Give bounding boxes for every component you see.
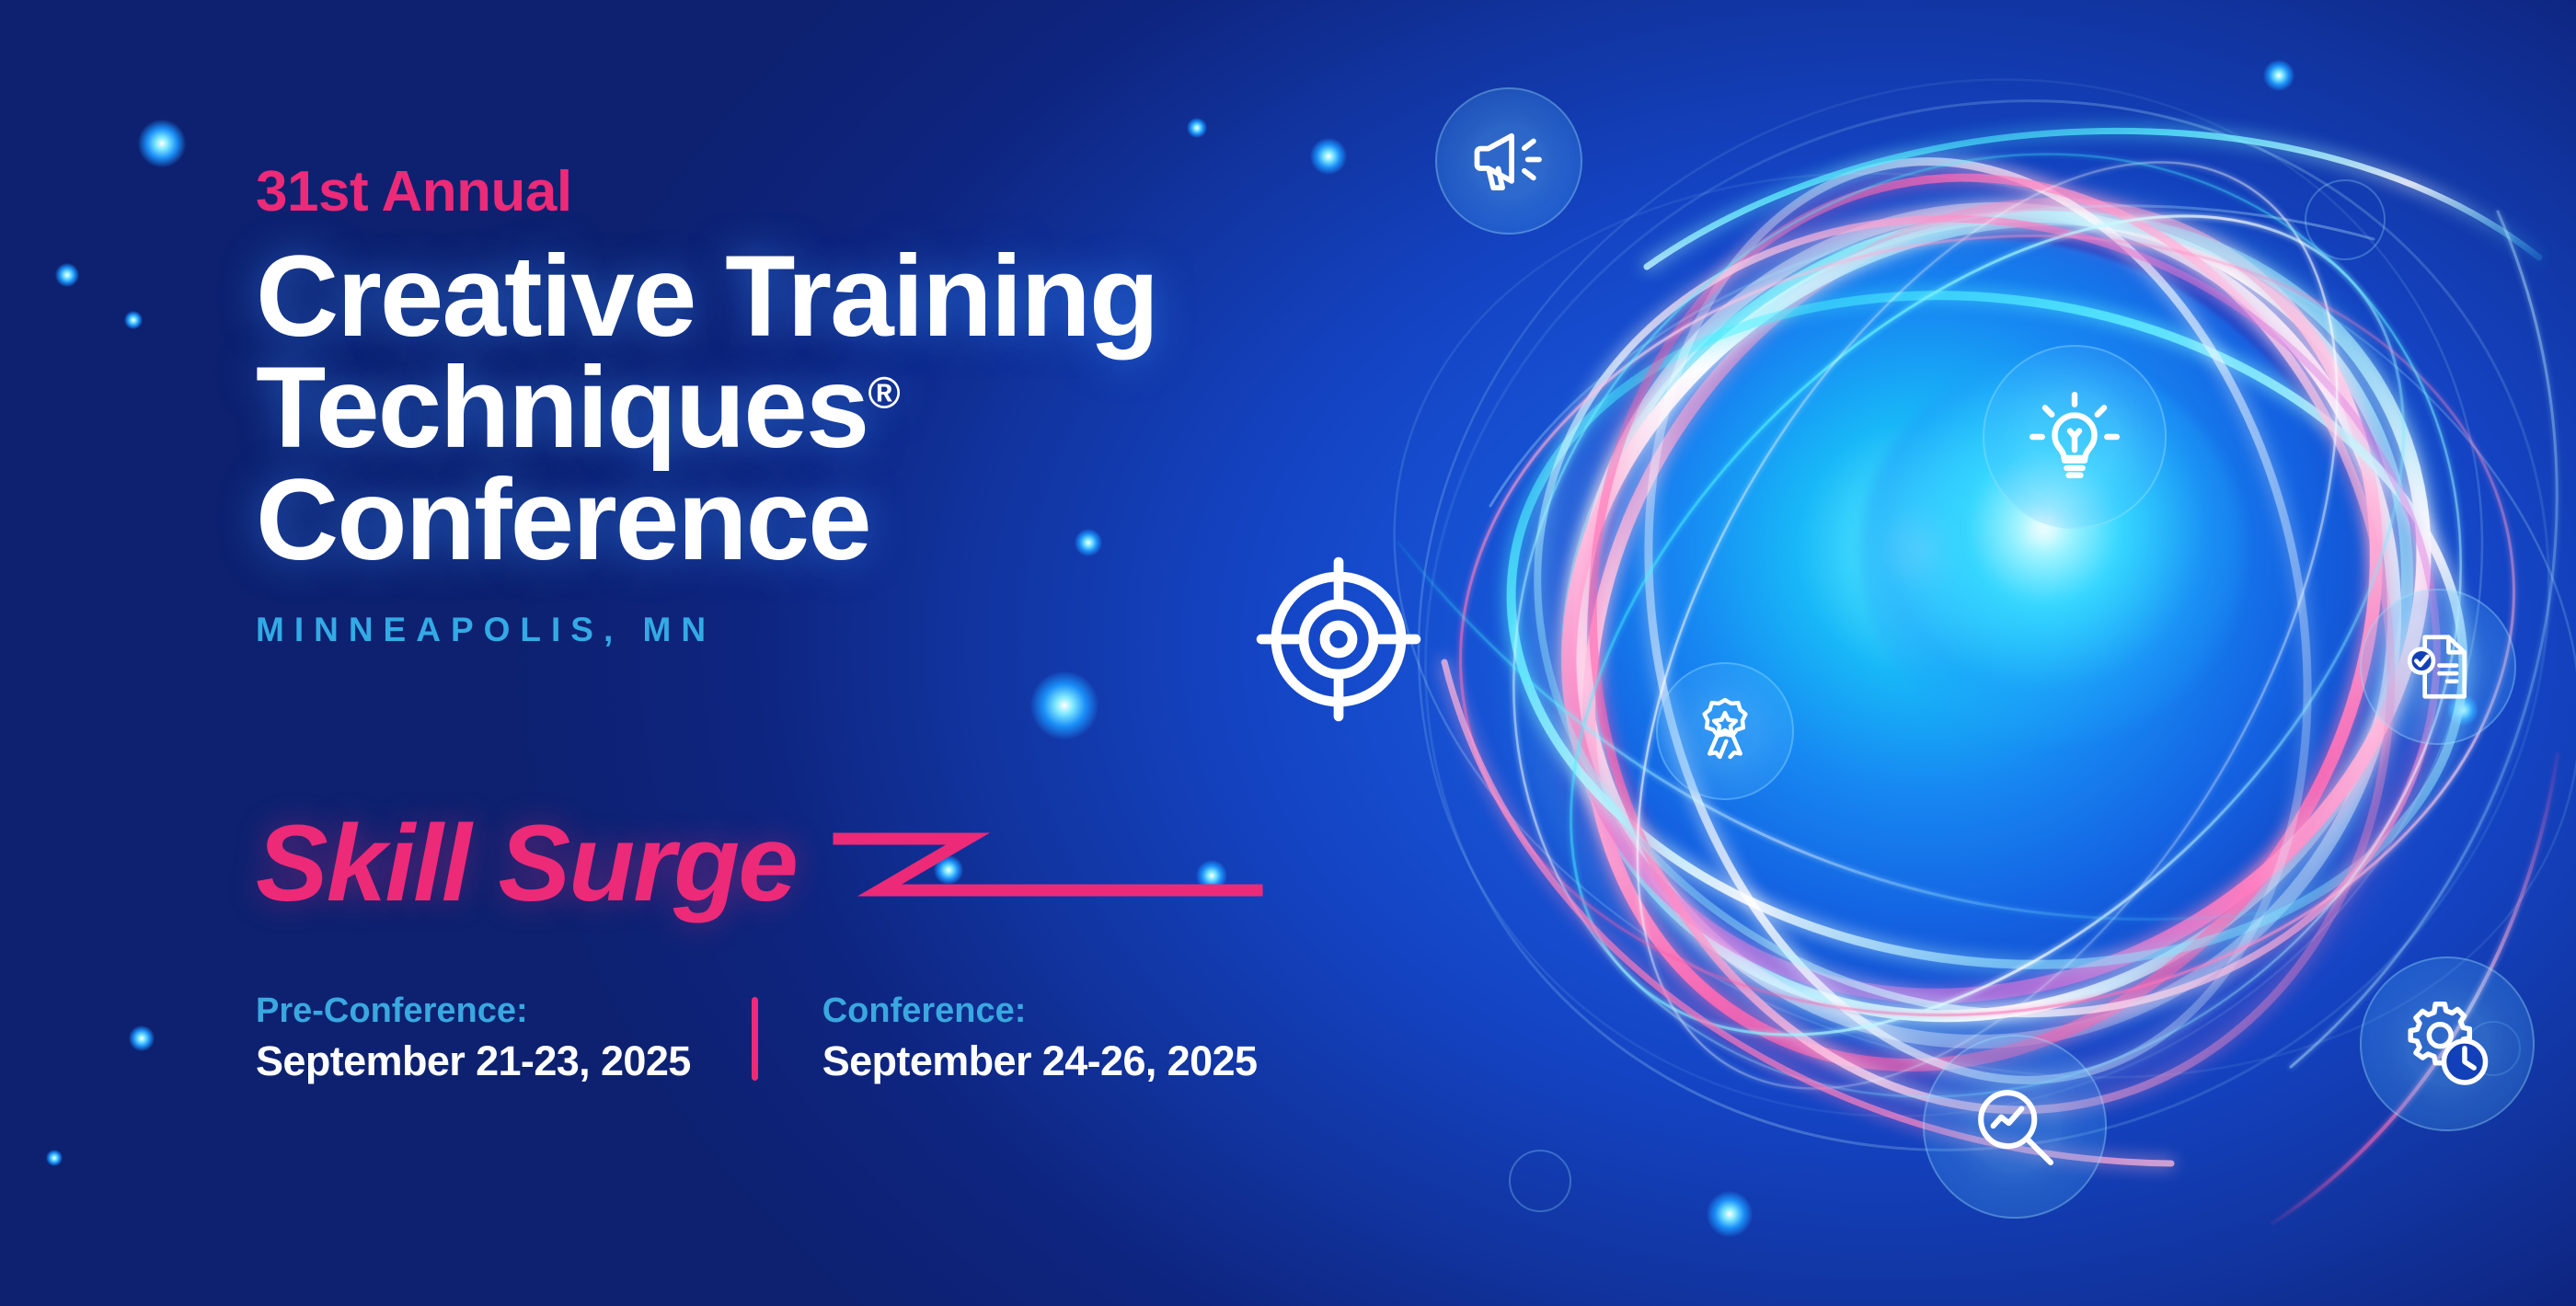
- date-section: Pre-Conference: September 21-23, 2025 Co…: [256, 993, 1317, 1083]
- theme-lockup: Skill Surge: [256, 809, 1264, 918]
- banner-text-column: 31st Annual Creative Training Techniques…: [256, 164, 1406, 649]
- sparkle-dot: [129, 1025, 155, 1051]
- title-line-2: Techniques: [256, 344, 868, 472]
- title-line-3: Conference: [256, 456, 870, 584]
- award-ribbon-icon: [1656, 662, 1794, 800]
- megaphone-icon: [1435, 87, 1582, 235]
- gear-clock-icon: [2360, 957, 2535, 1131]
- preconference-label: Pre-Conference:: [256, 993, 691, 1030]
- date-divider: [752, 997, 758, 1081]
- sparkle-dot: [55, 263, 79, 287]
- page-title: Creative Training Techniques® Conference: [256, 241, 1406, 576]
- location-label: MINNEAPOLIS, MN: [256, 611, 1406, 649]
- preconference-dates: Pre-Conference: September 21-23, 2025: [256, 993, 752, 1083]
- lightbulb-icon: [1983, 345, 2167, 529]
- title-line-1: Creative Training: [256, 233, 1157, 361]
- sparkle-dot: [138, 120, 186, 167]
- conference-label: Conference:: [822, 993, 1258, 1030]
- registered-trademark-icon: ®: [868, 370, 900, 418]
- edition-label: 31st Annual: [256, 164, 1406, 221]
- document-check-icon: [2360, 589, 2516, 745]
- surge-bolt-icon: [832, 826, 1264, 914]
- conference-value: September 24-26, 2025: [822, 1039, 1258, 1083]
- theme-title: Skill Surge: [256, 809, 797, 918]
- conference-dates: Conference: September 24-26, 2025: [758, 993, 1318, 1083]
- sparkle-dot: [46, 1150, 63, 1166]
- magnifier-chart-icon: [1923, 1035, 2107, 1219]
- conference-banner: 31st Annual Creative Training Techniques…: [0, 0, 2576, 1306]
- sparkle-dot: [1187, 118, 1207, 138]
- sparkle-dot: [124, 311, 143, 329]
- sparkle-dot: [1030, 671, 1098, 739]
- preconference-value: September 21-23, 2025: [256, 1039, 691, 1083]
